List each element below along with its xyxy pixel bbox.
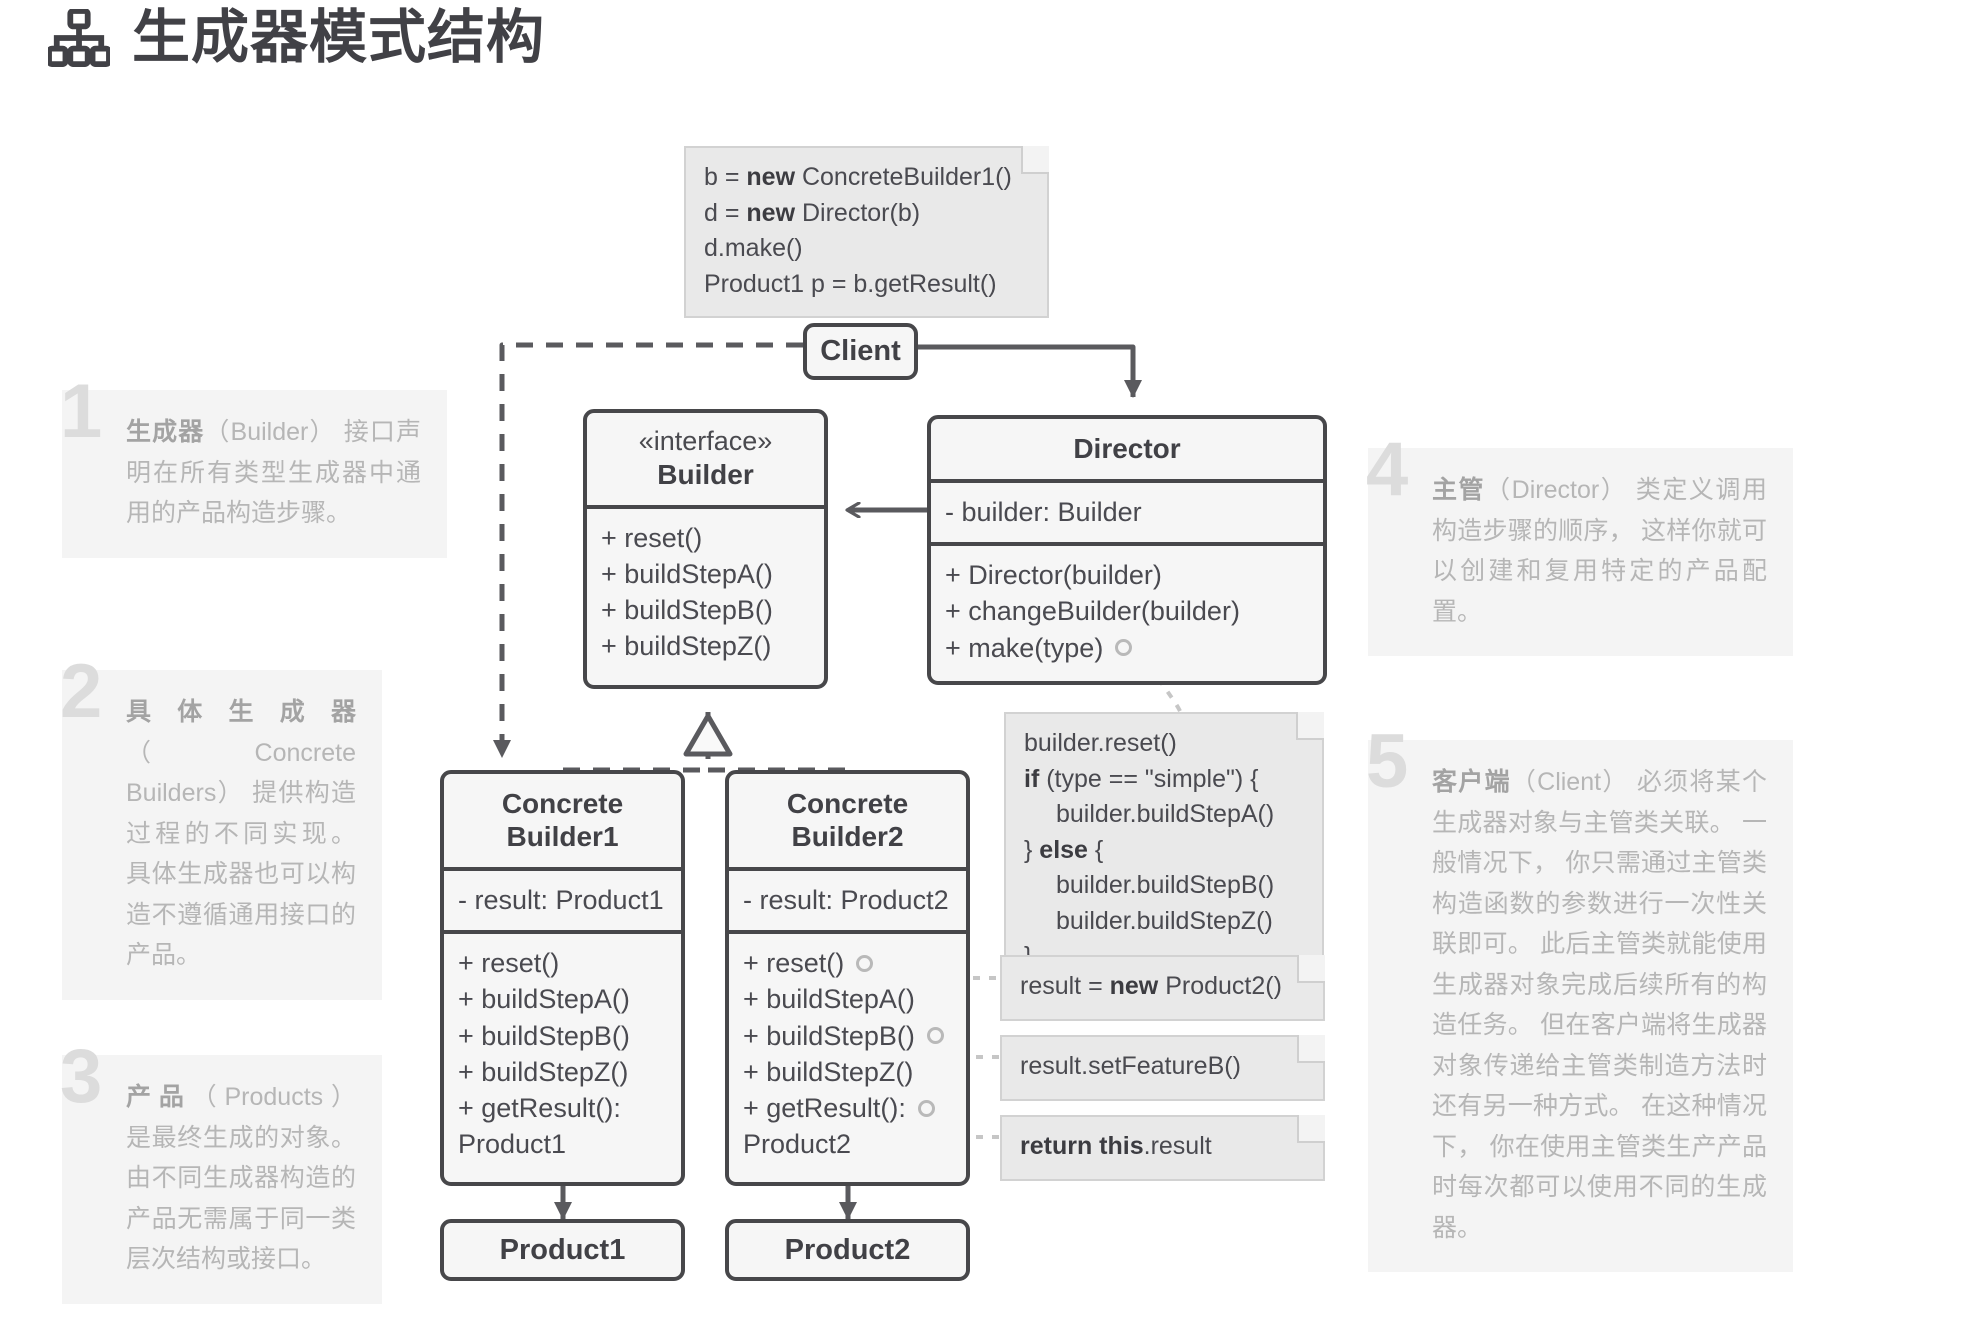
class-builder-header: «interface» Builder bbox=[587, 413, 824, 505]
class-product2-label: Product2 bbox=[785, 1234, 911, 1267]
method-row: + getResult(): bbox=[743, 1090, 952, 1126]
note-line: builder.reset() bbox=[1024, 726, 1304, 762]
class-product1[interactable]: Product1 bbox=[440, 1219, 685, 1281]
class-builder-stereotype: «interface» bbox=[597, 426, 814, 458]
note-fold-corner bbox=[1297, 1035, 1325, 1063]
note-line: d.make() bbox=[704, 231, 1029, 267]
method-row: + buildStepA() bbox=[458, 981, 667, 1017]
diagram-canvas: 生成器模式结构 bbox=[0, 0, 1975, 1337]
annotation-text: 生成器（Builder） 接口声明在所有类型生成器中通用的产品构造步骤。 bbox=[126, 412, 421, 534]
edge-client-to-director bbox=[918, 347, 1133, 397]
anchor-getresult bbox=[918, 1100, 935, 1117]
anchor-make bbox=[1115, 639, 1132, 656]
class-builder-name: Builder bbox=[657, 459, 753, 490]
method-row: + reset() bbox=[743, 945, 952, 981]
class-director-header: Director bbox=[931, 419, 1323, 479]
method-row: + getResult(): bbox=[458, 1090, 667, 1126]
note-line: d = new Director(b) bbox=[704, 196, 1029, 232]
anchor-buildstepb bbox=[927, 1027, 944, 1044]
annotation-number: 2 bbox=[60, 654, 102, 730]
annotation-text: 产品（Products） 是最终生成的对象。 由不同生成器构造的产品无需属于同一… bbox=[126, 1077, 356, 1280]
method-row: + buildStepZ() bbox=[601, 628, 810, 664]
class-name-line2: Builder2 bbox=[791, 821, 903, 852]
method-row: + changeBuilder(builder) bbox=[945, 593, 1309, 629]
class-concrete-builder2[interactable]: Concrete Builder2 - result: Product2 + r… bbox=[725, 770, 970, 1186]
note-fold-corner bbox=[1297, 1115, 1325, 1143]
method-row-continuation: Product2 bbox=[743, 1126, 952, 1162]
class-client-label: Client bbox=[820, 335, 901, 368]
class-concrete-builder2-methods: + reset() + buildStepA() + buildStepB() … bbox=[729, 930, 966, 1174]
class-director-methods: + Director(builder) + changeBuilder(buil… bbox=[931, 542, 1323, 678]
note-line: result.setFeatureB() bbox=[1020, 1049, 1305, 1085]
annotation-5: 5 客户端（Client） 必须将某个生成器对象与主管类关联。 一般情况下， 你… bbox=[1368, 740, 1793, 1272]
method-row: + make(type) bbox=[945, 630, 1309, 666]
method-row-continuation: Product1 bbox=[458, 1126, 667, 1162]
note-line: builder.buildStepB() bbox=[1024, 868, 1304, 904]
class-name-line2: Builder1 bbox=[506, 821, 618, 852]
page-header: 生成器模式结构 bbox=[48, 8, 545, 69]
annotation-4: 4 主管（Director） 类定义调用构造步骤的顺序， 这样你就可以创建和复用… bbox=[1368, 448, 1793, 656]
method-row: + buildStepA() bbox=[743, 981, 952, 1017]
class-director[interactable]: Director - builder: Builder + Director(b… bbox=[927, 415, 1327, 685]
annotation-text: 主管（Director） 类定义调用构造步骤的顺序， 这样你就可以创建和复用特定… bbox=[1432, 470, 1767, 632]
note-line: if (type == "simple") { bbox=[1024, 762, 1304, 798]
annotation-number: 1 bbox=[60, 374, 102, 450]
note-fold-corner bbox=[1021, 146, 1049, 174]
class-concrete-builder2-fields: - result: Product2 bbox=[729, 867, 966, 930]
note-line: b = new ConcreteBuilder1() bbox=[704, 160, 1029, 196]
note-line: return this.result bbox=[1020, 1129, 1305, 1165]
class-builder[interactable]: «interface» Builder + reset() + buildSte… bbox=[583, 409, 828, 689]
annotation-text: 具体生成器（Concrete Builders） 提供构造过程的不同实现。 具体… bbox=[126, 692, 356, 976]
note-fold-corner bbox=[1296, 712, 1324, 740]
method-row: + buildStepA() bbox=[601, 556, 810, 592]
class-concrete-builder1-fields: - result: Product1 bbox=[444, 867, 681, 930]
annotation-number: 4 bbox=[1366, 432, 1408, 508]
method-row: + buildStepZ() bbox=[458, 1054, 667, 1090]
annotation-number: 5 bbox=[1366, 724, 1408, 800]
note-director-make-code: builder.reset() if (type == "simple") { … bbox=[1004, 712, 1324, 991]
method-row: + reset() bbox=[601, 520, 810, 556]
class-director-name: Director bbox=[1073, 433, 1180, 464]
annotation-2: 2 具体生成器（Concrete Builders） 提供构造过程的不同实现。 … bbox=[62, 670, 382, 1000]
method-row: + Director(builder) bbox=[945, 557, 1309, 593]
class-builder-methods: + reset() + buildStepA() + buildStepB() … bbox=[587, 505, 824, 677]
field-row: - result: Product2 bbox=[743, 882, 952, 918]
note-client-code: b = new ConcreteBuilder1() d = new Direc… bbox=[684, 146, 1049, 318]
method-row: + buildStepB() bbox=[743, 1018, 952, 1054]
sitemap-icon bbox=[48, 9, 110, 67]
field-row: - result: Product1 bbox=[458, 882, 667, 918]
anchor-reset bbox=[856, 955, 873, 972]
method-row: + buildStepB() bbox=[458, 1018, 667, 1054]
note-line: result = new Product2() bbox=[1020, 969, 1305, 1005]
method-row: + buildStepZ() bbox=[743, 1054, 952, 1090]
annotation-1: 1 生成器（Builder） 接口声明在所有类型生成器中通用的产品构造步骤。 bbox=[62, 390, 447, 558]
annotation-3: 3 产品（Products） 是最终生成的对象。 由不同生成器构造的产品无需属于… bbox=[62, 1055, 382, 1304]
annotation-number: 3 bbox=[60, 1039, 102, 1115]
class-concrete-builder1[interactable]: Concrete Builder1 - result: Product1 + r… bbox=[440, 770, 685, 1186]
class-concrete-builder2-header: Concrete Builder2 bbox=[729, 774, 966, 867]
class-product2[interactable]: Product2 bbox=[725, 1219, 970, 1281]
note-line: Product1 p = b.getResult() bbox=[704, 267, 1029, 303]
note-cb2-getresult: return this.result bbox=[1000, 1115, 1325, 1181]
note-line: builder.buildStepZ() bbox=[1024, 904, 1304, 940]
method-row: + buildStepB() bbox=[601, 592, 810, 628]
note-line: builder.buildStepA() bbox=[1024, 797, 1304, 833]
field-row: - builder: Builder bbox=[945, 494, 1309, 530]
class-name-line1: Concrete bbox=[787, 788, 908, 819]
note-line: } else { bbox=[1024, 833, 1304, 869]
note-cb2-buildstepb: result.setFeatureB() bbox=[1000, 1035, 1325, 1101]
class-product1-label: Product1 bbox=[500, 1234, 626, 1267]
method-row: + reset() bbox=[458, 945, 667, 981]
annotation-text: 客户端（Client） 必须将某个生成器对象与主管类关联。 一般情况下， 你只需… bbox=[1432, 762, 1767, 1248]
class-concrete-builder1-header: Concrete Builder1 bbox=[444, 774, 681, 867]
class-client[interactable]: Client bbox=[803, 323, 918, 380]
note-cb2-reset: result = new Product2() bbox=[1000, 955, 1325, 1021]
page-title: 生成器模式结构 bbox=[132, 8, 545, 69]
note-fold-corner bbox=[1297, 955, 1325, 983]
class-director-fields: - builder: Builder bbox=[931, 479, 1323, 542]
class-name-line1: Concrete bbox=[502, 788, 623, 819]
class-concrete-builder1-methods: + reset() + buildStepA() + buildStepB() … bbox=[444, 930, 681, 1174]
